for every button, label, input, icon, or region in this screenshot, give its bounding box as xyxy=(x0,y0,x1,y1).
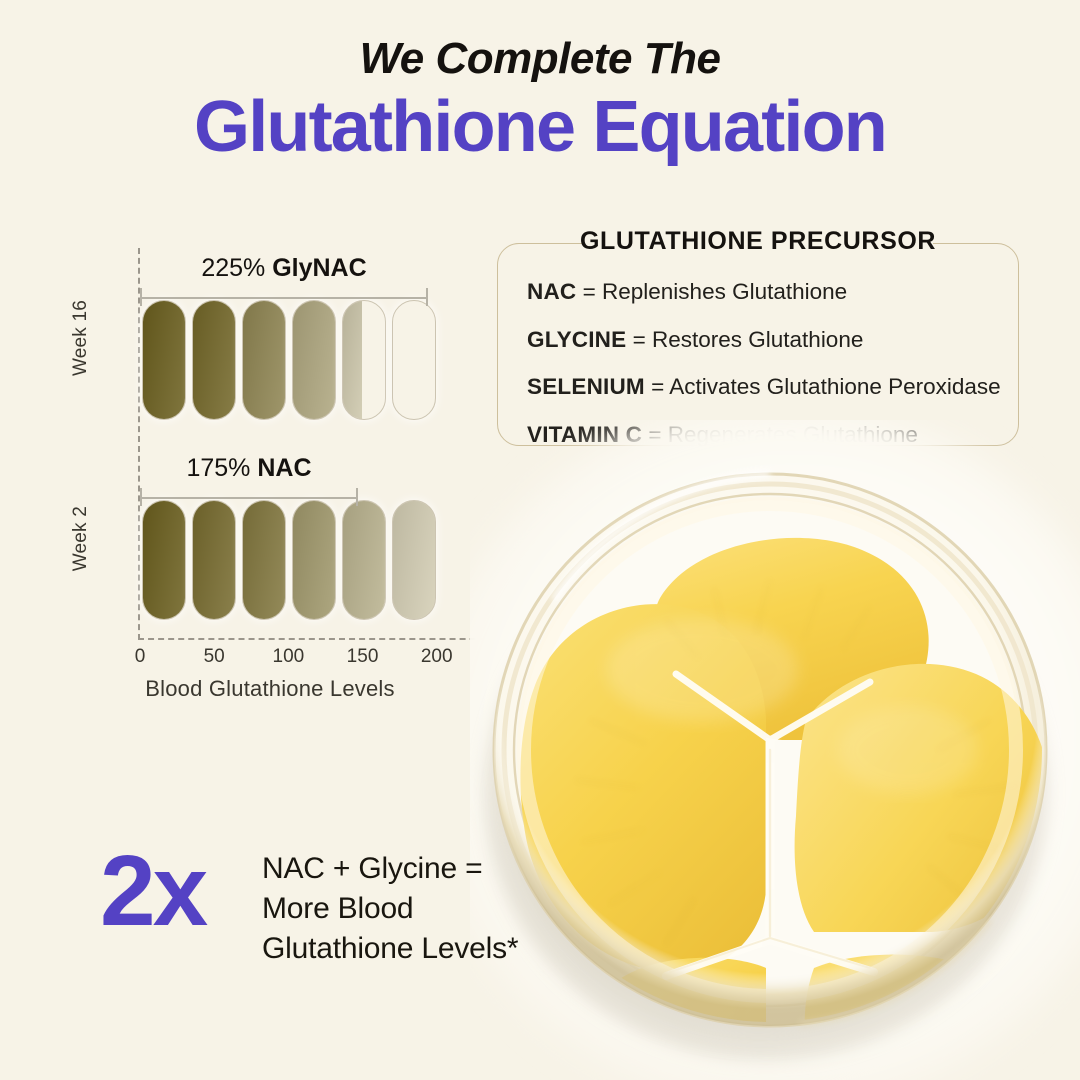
bracket-glynac-label: 225% GlyNAC xyxy=(140,254,428,283)
bracket-cap-right xyxy=(426,288,428,306)
capsule xyxy=(192,300,236,420)
capsule xyxy=(192,500,236,620)
petri-dish-image xyxy=(470,420,1080,1080)
capsule-fill xyxy=(193,501,235,619)
x-axis-tick-labels: 050100150200250 xyxy=(60,646,540,676)
precursor-definition: = Replenishes Glutathione xyxy=(576,279,847,304)
capsule xyxy=(342,300,386,420)
precursor-term: NAC xyxy=(527,279,576,304)
capsule xyxy=(292,300,336,420)
y-axis-line xyxy=(138,248,140,640)
claim-text: NAC + Glycine = More Blood Glutathione L… xyxy=(262,849,518,969)
capsule xyxy=(242,300,286,420)
x-axis-tick: 150 xyxy=(347,646,379,668)
bracket-series-name: NAC xyxy=(257,454,311,482)
capsule xyxy=(342,500,386,620)
bracket-series-name: GlyNAC xyxy=(272,254,366,282)
glutathione-chart: Week 16 Week 2 225% GlyNAC 175% NAC 0501… xyxy=(60,248,540,708)
bracket-nac-label: 175% NAC xyxy=(140,454,358,483)
x-axis-tick: 0 xyxy=(135,646,146,668)
capsule xyxy=(142,500,186,620)
bracket-bar xyxy=(140,297,428,299)
precursor-definition: = Restores Glutathione xyxy=(626,327,863,352)
claim-line-3: Glutathione Levels* xyxy=(262,929,518,969)
bracket-cap-left xyxy=(140,288,142,306)
bracket-nac: 175% NAC xyxy=(140,488,358,506)
header-subtitle: We Complete The xyxy=(0,36,1080,82)
bracket-glynac: 225% GlyNAC xyxy=(140,288,428,306)
petri-dish-illustration xyxy=(470,420,1080,1080)
x-axis-tick: 50 xyxy=(204,646,225,668)
x-axis-tick: 200 xyxy=(421,646,453,668)
bracket-cap-left xyxy=(140,488,142,506)
infographic-canvas: We Complete The Glutathione Equation Wee… xyxy=(0,0,1080,1080)
precursor-panel: GLUTATHIONE PRECURSOR NAC = Replenishes … xyxy=(497,243,1019,446)
capsule xyxy=(292,500,336,620)
header: We Complete The Glutathione Equation xyxy=(0,36,1080,166)
capsule-fill xyxy=(193,301,235,419)
capsule-fill xyxy=(343,501,385,619)
bracket-bar xyxy=(140,497,358,499)
claim-multiplier: 2x xyxy=(100,841,205,941)
x-axis-tick: 100 xyxy=(273,646,305,668)
capsule xyxy=(142,300,186,420)
capsule-fill xyxy=(143,301,185,419)
precursor-title: GLUTATHIONE PRECURSOR xyxy=(497,227,1019,256)
claim-line-2: More Blood xyxy=(262,889,518,929)
precursor-term: SELENIUM xyxy=(527,374,645,399)
capsule xyxy=(242,500,286,620)
precursor-item: SELENIUM = Activates Glutathione Peroxid… xyxy=(527,376,1001,399)
y-axis-tick-week16: Week 16 xyxy=(70,300,92,376)
capsule-fill xyxy=(343,301,362,419)
capsule-fill xyxy=(243,301,285,419)
capsule-fill xyxy=(293,501,335,619)
claim-block: 2x NAC + Glycine = More Blood Glutathion… xyxy=(100,845,620,975)
bracket-cap-right xyxy=(356,488,358,506)
precursor-item: NAC = Replenishes Glutathione xyxy=(527,281,1001,304)
claim-line-1: NAC + Glycine = xyxy=(262,849,518,889)
capsule xyxy=(392,300,436,420)
page-title: Glutathione Equation xyxy=(0,90,1080,166)
capsule-fill xyxy=(143,501,185,619)
x-axis-label: Blood Glutathione Levels xyxy=(60,676,480,702)
capsule-fill xyxy=(293,301,335,419)
capsule xyxy=(392,500,436,620)
y-axis-tick-week2: Week 2 xyxy=(70,506,92,571)
precursor-item: GLYCINE = Restores Glutathione xyxy=(527,329,1001,352)
capsule-fill xyxy=(243,501,285,619)
capsule-fill xyxy=(393,501,435,619)
precursor-definition: = Activates Glutathione Peroxidase xyxy=(645,374,1001,399)
precursor-term: GLYCINE xyxy=(527,327,626,352)
